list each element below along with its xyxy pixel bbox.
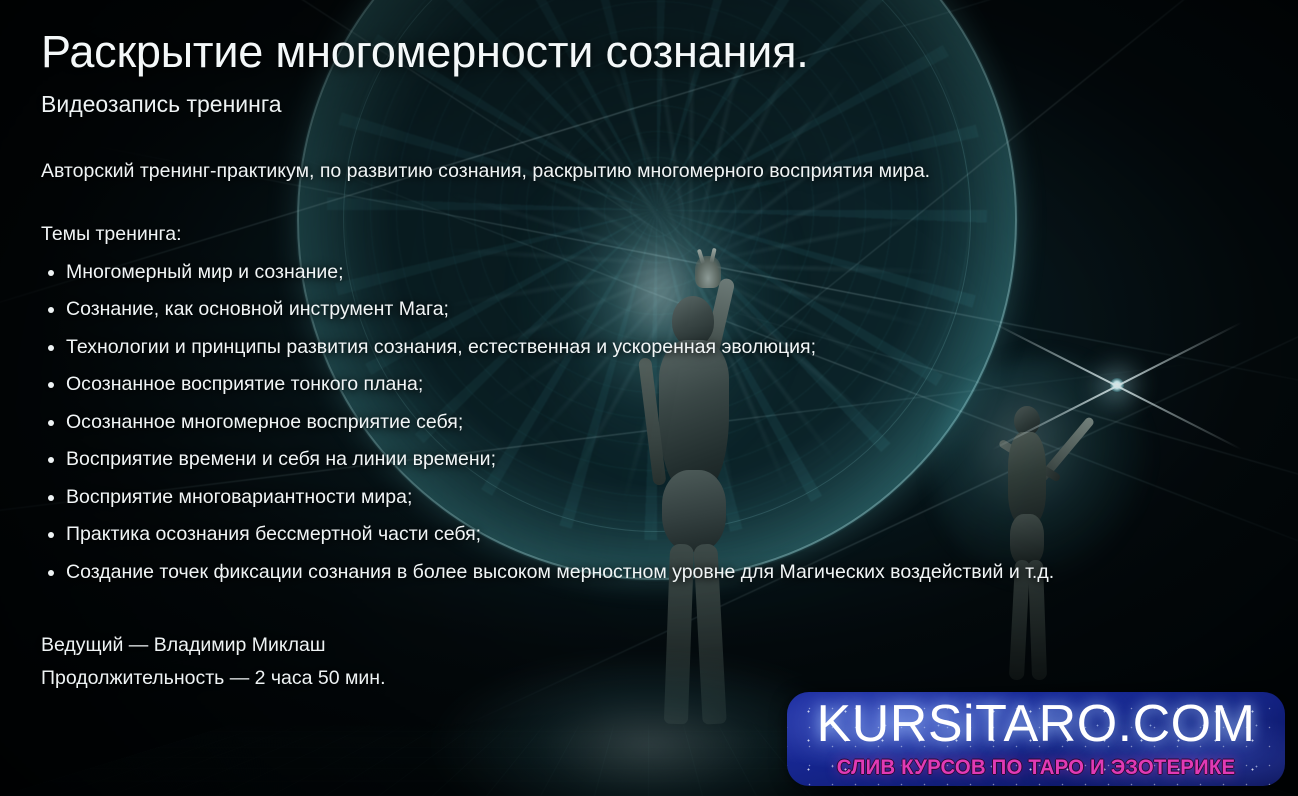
list-item: Создание точек фиксации сознания в более… [41,554,1268,592]
watermark-brand: KURSiTARO.COM [787,694,1285,754]
page-subtitle: Видеозапись тренинга [41,91,1268,118]
intro-paragraph: Авторский тренинг-практикум, по развитию… [41,160,1268,183]
watermark-tagline: СЛИВ КУРСОВ ПО ТАРО И ЭЗОТЕРИКЕ [794,756,1277,780]
list-item: Практика осознания бессмертной части себ… [41,516,1268,554]
topics-list: Многомерный мир и сознание; Сознание, ка… [41,254,1268,592]
poster: Раскрытие многомерности сознания. Видеоз… [0,0,1298,796]
poster-footer: Ведущий — Владимир Миклаш Продолжительно… [41,629,1268,695]
list-item: Осознанное восприятие тонкого плана; [41,366,1268,404]
list-item: Сознание, как основной инструмент Мага; [41,291,1268,329]
page-title: Раскрытие многомерности сознания. [41,28,1268,76]
list-item: Осознанное многомерное восприятие себя; [41,404,1268,442]
duration-line: Продолжительность — 2 часа 50 мин. [41,662,1268,695]
list-item: Восприятие многовариантности мира; [41,479,1268,517]
watermark-badge[interactable]: KURSiTARO.COM СЛИВ КУРСОВ ПО ТАРО И ЭЗОТ… [787,692,1285,786]
presenter-line: Ведущий — Владимир Миклаш [41,629,1268,662]
list-item: Восприятие времени и себя на линии време… [41,441,1268,479]
topics-label: Темы тренинга: [41,223,1268,246]
list-item: Технологии и принципы развития сознания,… [41,329,1268,367]
list-item: Многомерный мир и сознание; [41,254,1268,292]
poster-content: Раскрытие многомерности сознания. Видеоз… [41,28,1268,695]
